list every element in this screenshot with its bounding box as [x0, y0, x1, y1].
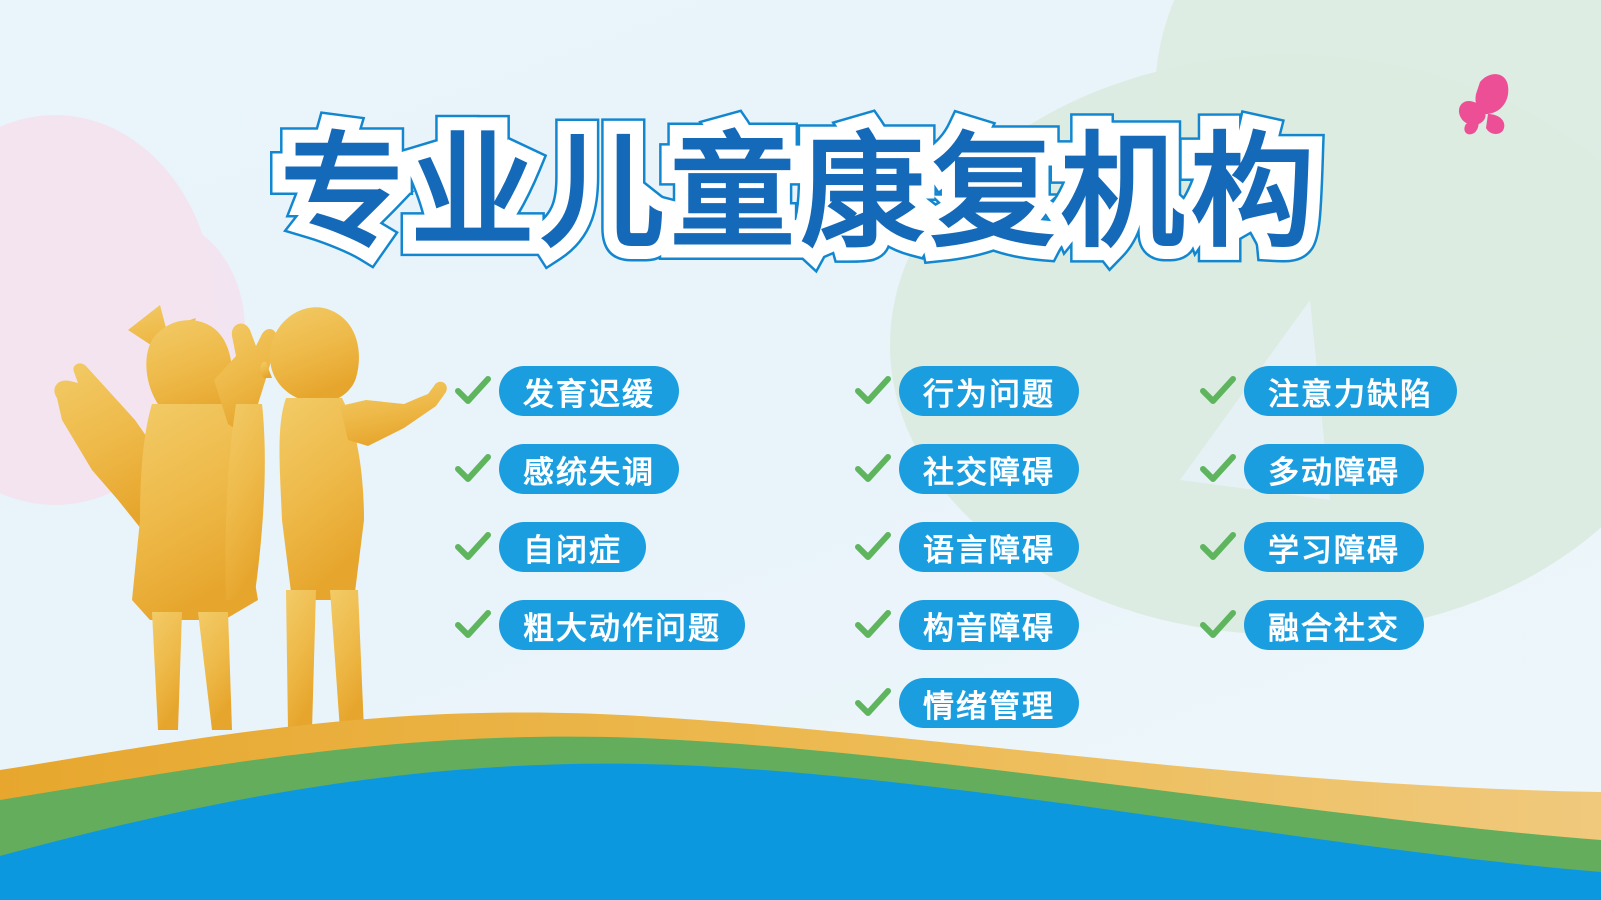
- check-icon: [855, 454, 891, 484]
- service-pill[interactable]: 多动障碍: [1244, 444, 1424, 494]
- service-pill[interactable]: 粗大动作问题: [499, 600, 745, 650]
- check-icon: [455, 532, 491, 562]
- service-pill[interactable]: 自闭症: [499, 522, 646, 572]
- service-column-1: 发育迟缓 感统失调 自闭症 粗大动作问题: [455, 352, 745, 664]
- list-item[interactable]: 语言障碍: [855, 508, 1079, 586]
- list-item[interactable]: 情绪管理: [855, 664, 1079, 742]
- list-item[interactable]: 融合社交: [1200, 586, 1457, 664]
- service-pill[interactable]: 构音障碍: [899, 600, 1079, 650]
- check-icon: [855, 610, 891, 640]
- check-icon: [855, 532, 891, 562]
- check-icon: [1200, 454, 1236, 484]
- list-item[interactable]: 粗大动作问题: [455, 586, 745, 664]
- service-pill[interactable]: 情绪管理: [899, 678, 1079, 728]
- service-pill[interactable]: 感统失调: [499, 444, 679, 494]
- list-item[interactable]: 注意力缺陷: [1200, 352, 1457, 430]
- check-icon: [855, 688, 891, 718]
- service-pill[interactable]: 注意力缺陷: [1244, 366, 1457, 416]
- check-icon: [455, 610, 491, 640]
- list-item[interactable]: 学习障碍: [1200, 508, 1457, 586]
- list-item[interactable]: 多动障碍: [1200, 430, 1457, 508]
- poster-canvas: 专业儿童康复机构 专业儿童康复机构 专业儿童康复机构 发育迟缓 感统失调: [0, 0, 1601, 900]
- list-item[interactable]: 行为问题: [855, 352, 1079, 430]
- list-item[interactable]: 自闭症: [455, 508, 745, 586]
- check-icon: [855, 376, 891, 406]
- list-item[interactable]: 发育迟缓: [455, 352, 745, 430]
- service-pill[interactable]: 发育迟缓: [499, 366, 679, 416]
- service-pill[interactable]: 融合社交: [1244, 600, 1424, 650]
- service-pill[interactable]: 社交障碍: [899, 444, 1079, 494]
- check-icon: [1200, 376, 1236, 406]
- service-column-3: 注意力缺陷 多动障碍 学习障碍 融合社交: [1200, 352, 1457, 664]
- check-icon: [455, 454, 491, 484]
- service-pill[interactable]: 行为问题: [899, 366, 1079, 416]
- service-column-2: 行为问题 社交障碍 语言障碍 构音障碍: [855, 352, 1079, 742]
- service-pill[interactable]: 语言障碍: [899, 522, 1079, 572]
- list-item[interactable]: 社交障碍: [855, 430, 1079, 508]
- check-icon: [455, 376, 491, 406]
- check-icon: [1200, 610, 1236, 640]
- list-item[interactable]: 感统失调: [455, 430, 745, 508]
- service-pill[interactable]: 学习障碍: [1244, 522, 1424, 572]
- check-icon: [1200, 532, 1236, 562]
- service-list: 发育迟缓 感统失调 自闭症 粗大动作问题: [455, 352, 1555, 752]
- list-item[interactable]: 构音障碍: [855, 586, 1079, 664]
